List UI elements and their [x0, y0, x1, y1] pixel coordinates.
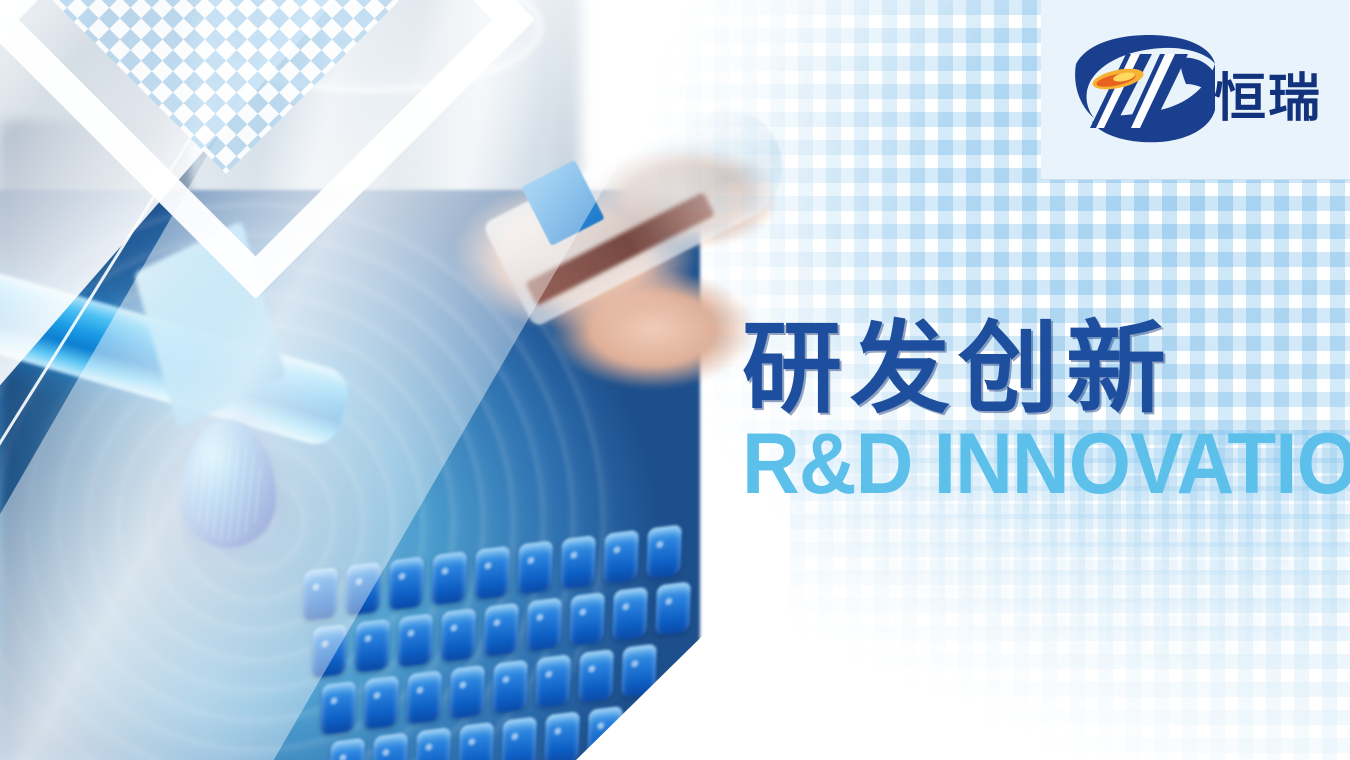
capsule	[569, 592, 605, 646]
capsule	[474, 546, 510, 600]
capsule	[440, 608, 476, 662]
capsule	[431, 551, 467, 605]
headline-english: R&D INNOVATION	[742, 422, 1307, 506]
capsule	[354, 618, 390, 672]
rd-innovation-banner: 研发创新 R&D INNOVATION	[0, 0, 1350, 760]
capsule	[388, 556, 424, 610]
headline-block: 研发创新 R&D INNOVATION	[742, 318, 1350, 506]
logo-lockup: 恒瑞	[1068, 30, 1322, 150]
headline-chinese: 研发创新	[742, 318, 1350, 420]
capsule	[483, 602, 519, 656]
capsule	[397, 613, 433, 667]
hengrui-swoosh-icon	[1068, 30, 1218, 150]
logo-company-name: 恒瑞	[1214, 73, 1322, 125]
logo-panel: 恒瑞	[1041, 0, 1350, 180]
capsule	[560, 535, 596, 589]
capsule	[526, 597, 562, 651]
capsule	[517, 540, 553, 594]
bottom-fade	[0, 690, 760, 760]
